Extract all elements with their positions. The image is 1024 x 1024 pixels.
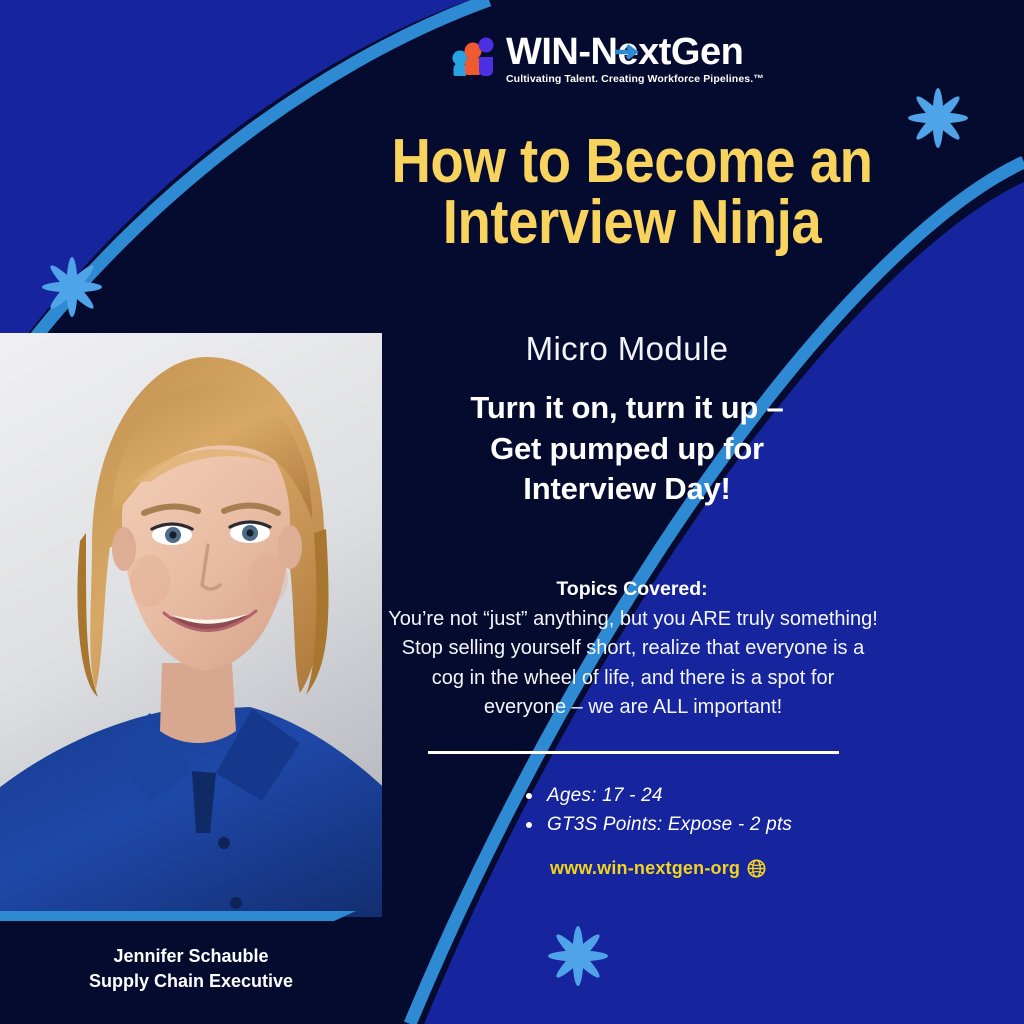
poster-canvas: WIN-N e xtGen Cultivating Talent. Creati… bbox=[0, 0, 1024, 1024]
brand-logo[interactable]: WIN-N e xtGen Cultivating Talent. Creati… bbox=[452, 28, 812, 90]
logo-text-block: WIN-N e xtGen Cultivating Talent. Creati… bbox=[506, 33, 764, 85]
page-title: How to Become an Interview Ninja bbox=[386, 132, 879, 254]
subtitle: Turn it on, turn it up – Get pumped up f… bbox=[392, 388, 862, 510]
list-item: Ages: 17 - 24 bbox=[524, 782, 792, 811]
speaker-credit: Jennifer Schauble Supply Chain Executive bbox=[0, 944, 382, 994]
portrait-photo bbox=[0, 333, 382, 917]
logo-word-part1: WIN-N bbox=[506, 33, 617, 71]
photo-underline-bar bbox=[0, 911, 334, 921]
starburst-icon bbox=[548, 926, 608, 986]
subtitle-line-3: Interview Day! bbox=[392, 469, 862, 510]
micro-module-label: Micro Module bbox=[392, 330, 862, 368]
website-url-text: www.win-nextgen-org bbox=[550, 858, 740, 879]
logo-tagline: Cultivating Talent. Creating Workforce P… bbox=[506, 73, 764, 85]
details-list: Ages: 17 - 24 GT3S Points: Expose - 2 pt… bbox=[524, 782, 792, 840]
logo-word-part3: xtGen bbox=[638, 33, 743, 71]
photo-underline-bar-tip bbox=[334, 911, 356, 921]
subtitle-line-1: Turn it on, turn it up – bbox=[392, 388, 862, 429]
speaker-title: Supply Chain Executive bbox=[0, 969, 382, 994]
topics-covered-body: You’re not “just” anything, but you ARE … bbox=[388, 605, 878, 723]
topics-covered-heading: Topics Covered: bbox=[392, 578, 872, 601]
website-link[interactable]: www.win-nextgen-org bbox=[550, 858, 766, 879]
list-item: GT3S Points: Expose - 2 pts bbox=[524, 811, 792, 840]
globe-icon bbox=[747, 859, 766, 878]
headline-line-2: Interview Ninja bbox=[386, 193, 879, 254]
starburst-icon bbox=[908, 88, 968, 148]
logo-e-with-arrow: e bbox=[617, 33, 638, 71]
right-arrow-icon bbox=[615, 44, 641, 60]
section-divider bbox=[428, 751, 839, 754]
subtitle-line-2: Get pumped up for bbox=[392, 429, 862, 470]
headline-line-1: How to Become an bbox=[391, 127, 872, 196]
speaker-photo bbox=[0, 333, 382, 917]
three-people-icon bbox=[452, 37, 496, 81]
logo-wordmark: WIN-N e xtGen bbox=[506, 33, 764, 71]
speaker-name: Jennifer Schauble bbox=[0, 944, 382, 969]
starburst-icon bbox=[42, 257, 102, 317]
